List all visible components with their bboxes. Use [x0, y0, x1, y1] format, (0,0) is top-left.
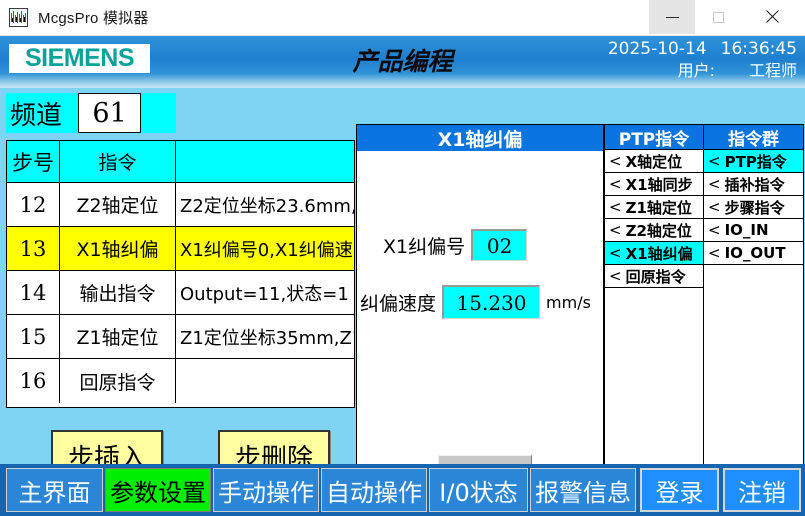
- deviation-number-field: X1纠偏号 02: [383, 229, 527, 261]
- deviation-number-input[interactable]: 02: [471, 229, 527, 261]
- header-time: 16:36:45: [721, 38, 797, 60]
- hmi-screen: SIEMENS 产品编程 2025-10-1416:36:45 用户:工程师 频…: [0, 36, 805, 516]
- cell-step: 13: [7, 227, 60, 270]
- cell-step: 15: [7, 315, 60, 358]
- table-row-selected[interactable]: 13 X1轴纠偏 X1纠偏号0,X1纠偏速: [7, 227, 354, 271]
- chevron-left-icon: <: [708, 244, 721, 262]
- ptp-item-z1-axis-positioning[interactable]: < Z1轴定位: [605, 196, 703, 219]
- channel-selector: 频道 61: [6, 93, 176, 133]
- command-panel: PTP指令 < X轴定位 < X1轴同步 < Z1轴定位 < Z2轴定位: [604, 124, 804, 499]
- group-item-label: 步骤指令: [725, 197, 785, 218]
- channel-value-input[interactable]: 61: [78, 93, 141, 133]
- chevron-left-icon: <: [708, 175, 721, 193]
- chevron-left-icon: <: [609, 152, 622, 170]
- chevron-left-icon: <: [609, 221, 622, 239]
- bottom-nav: 主界面 参数设置 手动操作 自动操作 I/0状态 报警信息 登录 注销: [0, 464, 805, 516]
- ptp-item-label: Z1轴定位: [626, 197, 692, 218]
- header-date: 2025-10-14: [608, 38, 707, 60]
- cell-detail: X1纠偏号0,X1纠偏速: [176, 227, 354, 270]
- cell-detail: [176, 359, 354, 403]
- cell-command: Z1轴定位: [60, 315, 176, 358]
- dialog-title: X1轴纠偏: [357, 125, 603, 151]
- minimize-button[interactable]: [649, 0, 695, 34]
- table-row[interactable]: 15 Z1轴定位 Z1定位坐标35mm,Z1: [7, 315, 354, 359]
- ptp-item-x1-axis-deviation[interactable]: < X1轴纠偏: [605, 242, 703, 265]
- maximize-button[interactable]: [695, 0, 741, 34]
- nav-item-alarm[interactable]: 报警信息: [530, 468, 636, 512]
- minimize-icon: [666, 17, 679, 18]
- chevron-left-icon: <: [609, 267, 622, 285]
- chevron-left-icon: <: [708, 198, 721, 216]
- ptp-column-header: PTP指令: [605, 125, 703, 150]
- ptp-command-column: PTP指令 < X轴定位 < X1轴同步 < Z1轴定位 < Z2轴定位: [605, 125, 704, 498]
- user-value: 工程师: [749, 61, 797, 80]
- command-group-column: 指令群 < PTP指令 < 插补指令 < 步骤指令 < IO_IN: [704, 125, 803, 498]
- ptp-item-label: Z2轴定位: [626, 220, 692, 241]
- nav-item-login[interactable]: 登录: [640, 468, 719, 512]
- deviation-speed-unit: mm/s: [546, 293, 591, 312]
- cell-step: 12: [7, 183, 60, 226]
- ptp-item-home-command[interactable]: < 回原指令: [605, 265, 703, 288]
- group-item-label: PTP指令: [725, 151, 787, 172]
- ptp-item-x-axis-positioning[interactable]: < X轴定位: [605, 150, 703, 173]
- deviation-number-label: X1纠偏号: [383, 232, 465, 259]
- ptp-item-label: X1轴同步: [626, 174, 693, 195]
- ptp-item-z2-axis-positioning[interactable]: < Z2轴定位: [605, 219, 703, 242]
- x1-deviation-dialog: X1轴纠偏 X1纠偏号 02 纠偏速度 15.230 mm/s 纠偏确认: [356, 124, 604, 499]
- table-row[interactable]: 12 Z2轴定位 Z2定位坐标23.6mm,: [7, 183, 354, 227]
- deviation-speed-input[interactable]: 15.230: [442, 285, 540, 319]
- nav-item-manual[interactable]: 手动操作: [213, 468, 319, 512]
- col-header-command: 指令: [60, 141, 176, 182]
- window-titlebar: McgsPro 模拟器: [0, 0, 805, 36]
- deviation-speed-field: 纠偏速度 15.230 mm/s: [360, 285, 591, 319]
- nav-item-main[interactable]: 主界面: [6, 468, 103, 512]
- channel-label: 频道: [10, 95, 62, 132]
- cell-command: Z2轴定位: [60, 183, 176, 226]
- table-header-row: 步号 指令: [7, 141, 354, 183]
- chevron-left-icon: <: [708, 221, 721, 239]
- group-item-label: 插补指令: [725, 174, 785, 195]
- cell-detail: Z2定位坐标23.6mm,: [176, 183, 354, 226]
- table-row[interactable]: 14 输出指令 Output=11,状态=1: [7, 271, 354, 315]
- chevron-left-icon: <: [609, 244, 622, 262]
- close-button[interactable]: [743, 0, 801, 34]
- program-step-table: 步号 指令 12 Z2轴定位 Z2定位坐标23.6mm, 13 X1轴纠偏 X1…: [6, 140, 355, 408]
- close-icon: [765, 10, 779, 24]
- cell-detail: Output=11,状态=1: [176, 271, 354, 314]
- group-item-ptp[interactable]: < PTP指令: [704, 150, 803, 173]
- ptp-item-x1-axis-sync[interactable]: < X1轴同步: [605, 173, 703, 196]
- app-root: McgsPro 模拟器 SIEMENS 产品编程 2025-10-1416:36…: [0, 0, 805, 516]
- chevron-left-icon: <: [708, 152, 721, 170]
- nav-item-io-status[interactable]: I/0状态: [429, 468, 528, 512]
- cell-step: 16: [7, 359, 60, 403]
- group-item-step[interactable]: < 步骤指令: [704, 196, 803, 219]
- ptp-item-label: 回原指令: [626, 266, 686, 287]
- chevron-left-icon: <: [609, 198, 622, 216]
- ptp-item-label: X轴定位: [626, 151, 683, 172]
- group-column-header: 指令群: [704, 125, 803, 150]
- nav-item-parameters[interactable]: 参数设置: [105, 468, 211, 512]
- nav-item-logout[interactable]: 注销: [723, 468, 801, 512]
- user-label: 用户:: [678, 61, 715, 80]
- chevron-left-icon: <: [609, 175, 622, 193]
- group-item-io-in[interactable]: < IO_IN: [704, 219, 803, 242]
- col-header-detail: [176, 141, 354, 182]
- cell-command: X1轴纠偏: [60, 227, 176, 270]
- maximize-icon: [713, 12, 724, 23]
- group-item-interpolation[interactable]: < 插补指令: [704, 173, 803, 196]
- cell-detail: Z1定位坐标35mm,Z1: [176, 315, 354, 358]
- window-title: McgsPro 模拟器: [38, 7, 149, 28]
- app-waveform-icon: [9, 8, 28, 27]
- ptp-item-label: X1轴纠偏: [626, 243, 693, 264]
- table-row[interactable]: 16 回原指令: [7, 359, 354, 403]
- hmi-header: SIEMENS 产品编程 2025-10-1416:36:45 用户:工程师: [0, 36, 805, 88]
- deviation-speed-label: 纠偏速度: [360, 289, 436, 316]
- cell-step: 14: [7, 271, 60, 314]
- cell-command: 输出指令: [60, 271, 176, 314]
- nav-item-auto[interactable]: 自动操作: [321, 468, 427, 512]
- col-header-step: 步号: [7, 141, 60, 182]
- datetime-block: 2025-10-1416:36:45 用户:工程师: [608, 38, 797, 82]
- group-item-label: IO_OUT: [725, 244, 786, 262]
- group-item-label: IO_IN: [725, 221, 769, 239]
- group-item-io-out[interactable]: < IO_OUT: [704, 242, 803, 265]
- cell-command: 回原指令: [60, 359, 176, 403]
